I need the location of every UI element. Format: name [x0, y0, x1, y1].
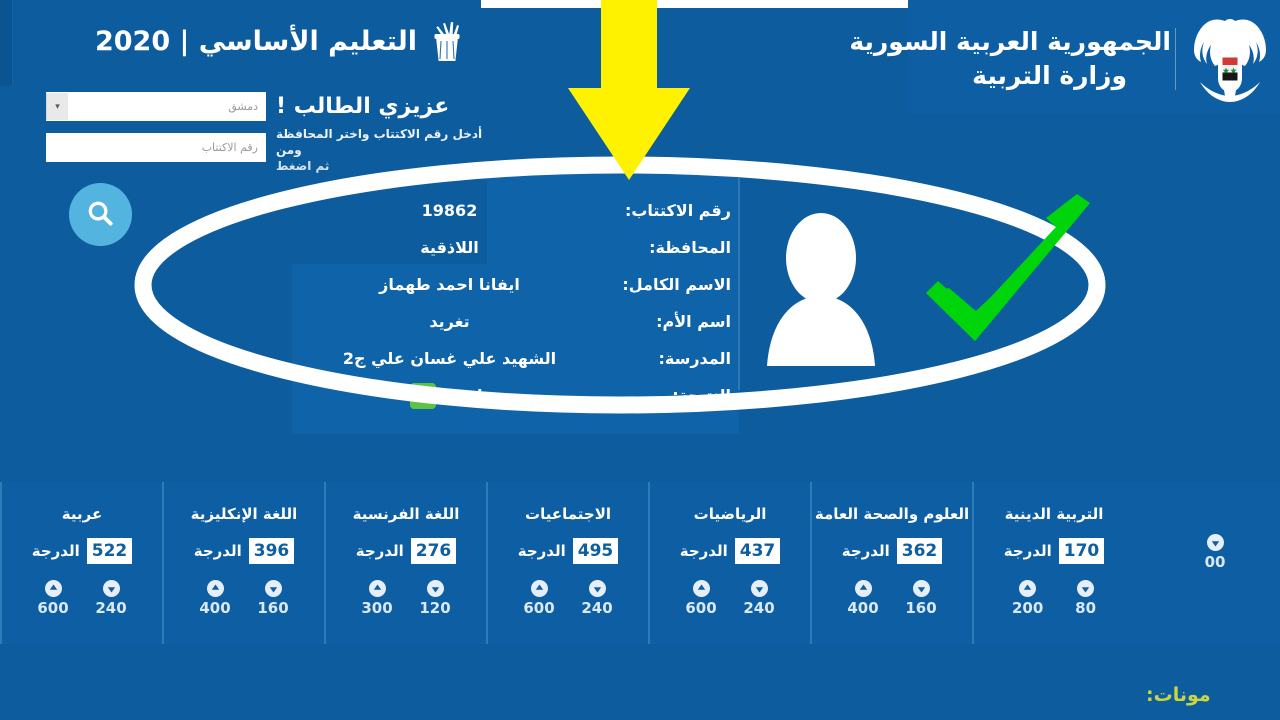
info-row-mothername: اسم الأم: تغريد [292, 303, 739, 340]
subject-grade-value: 362 [897, 538, 943, 564]
user-avatar-placeholder-icon [758, 200, 884, 374]
arrow-up-circle-icon [855, 580, 872, 597]
result-page: الجمهورية العربية السورية وزارة التربية [0, 0, 1280, 720]
info-row-result: النتيجة: ناجح ✓ [292, 377, 739, 414]
down-arrow-annotation [568, 0, 690, 180]
info-value: اللاذقية [292, 238, 617, 257]
subject-name: التربية الدينية [1005, 504, 1104, 524]
subject-minmax: 160 400 [812, 580, 972, 617]
arrow-up-circle-icon [531, 580, 548, 597]
subject-grade: 437 الدرجة [680, 538, 780, 564]
subject-name: الرياضيات [694, 504, 767, 524]
info-row-governorate: المحافظة: اللاذقية [292, 229, 739, 266]
subject-card: اللغة الفرنسية 276 الدرجة 120 300 [324, 482, 486, 644]
subject-card: الرياضيات 437 الدرجة 240 600 [648, 482, 810, 644]
subject-card: عربية 522 الدرجة 240 600 [0, 482, 162, 644]
subject-min: 120 [419, 580, 450, 617]
avatar [758, 196, 884, 374]
subject-min: 160 [257, 580, 288, 617]
hint-line-2: ثم اضغط [276, 158, 506, 174]
search-icon [85, 198, 116, 232]
subject-grade-value: 522 [87, 538, 133, 564]
page-title: التعليم الأساسي | 2020 [0, 18, 465, 66]
subject-min-value: 120 [419, 599, 450, 617]
info-value: تغريد [292, 312, 617, 331]
arrow-down-circle-icon [589, 580, 606, 597]
subject-minmax: 80 200 [974, 580, 1134, 617]
arrow-down-circle-icon [751, 580, 768, 597]
subject-grade-value: 276 [411, 538, 457, 564]
arrow-down-circle-icon [427, 580, 444, 597]
subject-card: اللغة الإنكليزية 396 الدرجة 160 400 [162, 482, 324, 644]
subject-min-value: 160 [905, 599, 936, 617]
subject-min-value: 240 [581, 599, 612, 617]
subject-min: 00 [1205, 534, 1226, 571]
subject-max: 600 [523, 580, 554, 617]
subject-grade: 396 الدرجة [194, 538, 294, 564]
subject-grade: 276 الدرجة [356, 538, 456, 564]
arrow-up-circle-icon [369, 580, 386, 597]
subject-card-partial: 00 [1134, 482, 1280, 644]
subject-min: 240 [581, 580, 612, 617]
subject-card: العلوم والصحة العامة 362 الدرجة 160 400 [810, 482, 972, 644]
result-value: ناجح [454, 386, 489, 405]
subject-max: 300 [361, 580, 392, 617]
subject-grade-value: 495 [573, 538, 619, 564]
subject-card: التربية الدينية 170 الدرجة 80 200 [972, 482, 1134, 644]
chevron-down-icon[interactable]: ▾ [46, 93, 68, 120]
subject-name: عربية [62, 504, 102, 524]
subject-minmax: 240 600 [488, 580, 648, 617]
country-name: الجمهورية العربية السورية [849, 25, 1171, 59]
subject-max-value: 200 [1012, 599, 1043, 617]
subject-grade-label: الدرجة [1004, 542, 1052, 560]
subject-grade-value: 437 [735, 538, 781, 564]
subject-minmax: 120 300 [326, 580, 486, 617]
hint-line-1: أدخل رقم الاكتتاب واختر المحافظة ومن [276, 126, 506, 158]
subject-grade-label: الدرجة [194, 542, 242, 560]
arrow-down-circle-icon [1077, 580, 1094, 597]
subject-grade: 170 الدرجة [1004, 538, 1104, 564]
info-label: رقم الاكتتاب: [617, 201, 739, 220]
green-check-annotation [926, 194, 1090, 341]
subject-max-value: 300 [361, 599, 392, 617]
arrow-down-circle-icon [1207, 534, 1224, 551]
ministry-name: وزارة التربية [972, 59, 1171, 93]
subject-minmax: 240 600 [2, 580, 162, 617]
page-top-white-strip [481, 0, 911, 8]
arrow-down-circle-icon [103, 580, 120, 597]
subject-grade: 522 الدرجة [32, 538, 132, 564]
arrow-up-circle-icon [1019, 580, 1036, 597]
result-label: النتيجة: [617, 386, 739, 405]
hint-heading: عزيزي الطالب ! [276, 92, 506, 122]
info-value: ايفانا احمد طهماز [292, 275, 617, 294]
arrow-up-circle-icon [693, 580, 710, 597]
info-label: المدرسة: [617, 349, 739, 368]
subject-max: 600 [37, 580, 68, 617]
subject-grade-label: الدرجة [518, 542, 566, 560]
arrow-down-circle-icon [913, 580, 930, 597]
subject-grade-value: 170 [1059, 538, 1105, 564]
page-title-text: التعليم الأساسي | 2020 [95, 21, 417, 63]
check-badge-icon: ✓ [410, 383, 436, 409]
arrow-up-circle-icon [45, 580, 62, 597]
subject-name: اللغة الإنكليزية [191, 504, 298, 524]
subject-minmax: 00 [1134, 534, 1280, 571]
governorate-value: دمشق [68, 92, 266, 121]
subject-min: 80 [1075, 580, 1096, 617]
subject-min: 160 [905, 580, 936, 617]
result-value-wrap: ناجح ✓ [292, 383, 617, 409]
bottom-note: مونات: [1146, 684, 1211, 706]
subject-grade: 495 الدرجة [518, 538, 618, 564]
pencil-cup-icon [429, 21, 465, 63]
subject-grades-strip: عربية 522 الدرجة 240 600 [0, 482, 1280, 644]
subject-grade-label: الدرجة [842, 542, 890, 560]
subject-min-value: 00 [1205, 553, 1226, 571]
governorate-select[interactable]: ▾ دمشق [46, 92, 266, 121]
arrow-up-circle-icon [207, 580, 224, 597]
subject-min-value: 240 [95, 599, 126, 617]
subject-name: العلوم والصحة العامة [815, 504, 969, 524]
info-row-seat: رقم الاكتتاب: 19862 [292, 192, 739, 229]
info-row-fullname: الاسم الكامل: ايفانا احمد طهماز [292, 266, 739, 303]
subject-min: 240 [95, 580, 126, 617]
student-hint: عزيزي الطالب ! أدخل رقم الاكتتاب واختر ا… [276, 92, 506, 174]
subject-grade-label: الدرجة [32, 542, 80, 560]
subject-card: الاجتماعيات 495 الدرجة 240 600 [486, 482, 648, 644]
info-label: المحافظة: [617, 238, 739, 257]
subject-grade: 362 الدرجة [842, 538, 942, 564]
subject-min: 240 [743, 580, 774, 617]
info-label: الاسم الكامل: [617, 275, 739, 294]
subject-min-value: 160 [257, 599, 288, 617]
ministry-title: الجمهورية العربية السورية وزارة التربية [849, 25, 1171, 93]
subject-max: 200 [1012, 580, 1043, 617]
info-row-school: المدرسة: الشهيد علي غسان علي ج2 [292, 340, 739, 377]
subject-max: 400 [199, 580, 230, 617]
subject-grade-value: 396 [249, 538, 295, 564]
student-info-rows: رقم الاكتتاب: 19862 المحافظة: اللاذقية ا… [292, 192, 739, 424]
syrian-eagle-emblem-icon [1188, 16, 1272, 102]
seat-number-input[interactable]: رقم الاكتتاب [46, 133, 266, 162]
subject-max-value: 400 [199, 599, 230, 617]
search-button[interactable] [69, 183, 132, 246]
subject-minmax: 160 400 [164, 580, 324, 617]
arrow-down-circle-icon [265, 580, 282, 597]
ministry-branding: الجمهورية العربية السورية وزارة التربية [918, 14, 1276, 104]
subject-max-value: 600 [523, 599, 554, 617]
info-label: اسم الأم: [617, 312, 739, 331]
subject-min-value: 80 [1075, 599, 1096, 617]
subject-grade-label: الدرجة [680, 542, 728, 560]
subject-name: الاجتماعيات [525, 504, 611, 524]
subject-min-value: 240 [743, 599, 774, 617]
subject-minmax: 240 600 [650, 580, 810, 617]
subject-grade-label: الدرجة [356, 542, 404, 560]
info-value: الشهيد علي غسان علي ج2 [292, 349, 617, 368]
subject-max-value: 400 [847, 599, 878, 617]
subject-max: 400 [847, 580, 878, 617]
subject-max-value: 600 [685, 599, 716, 617]
subject-max: 600 [685, 580, 716, 617]
info-value: 19862 [292, 201, 617, 220]
ministry-divider [1175, 28, 1176, 90]
subject-max-value: 600 [37, 599, 68, 617]
subject-name: اللغة الفرنسية [353, 504, 460, 524]
